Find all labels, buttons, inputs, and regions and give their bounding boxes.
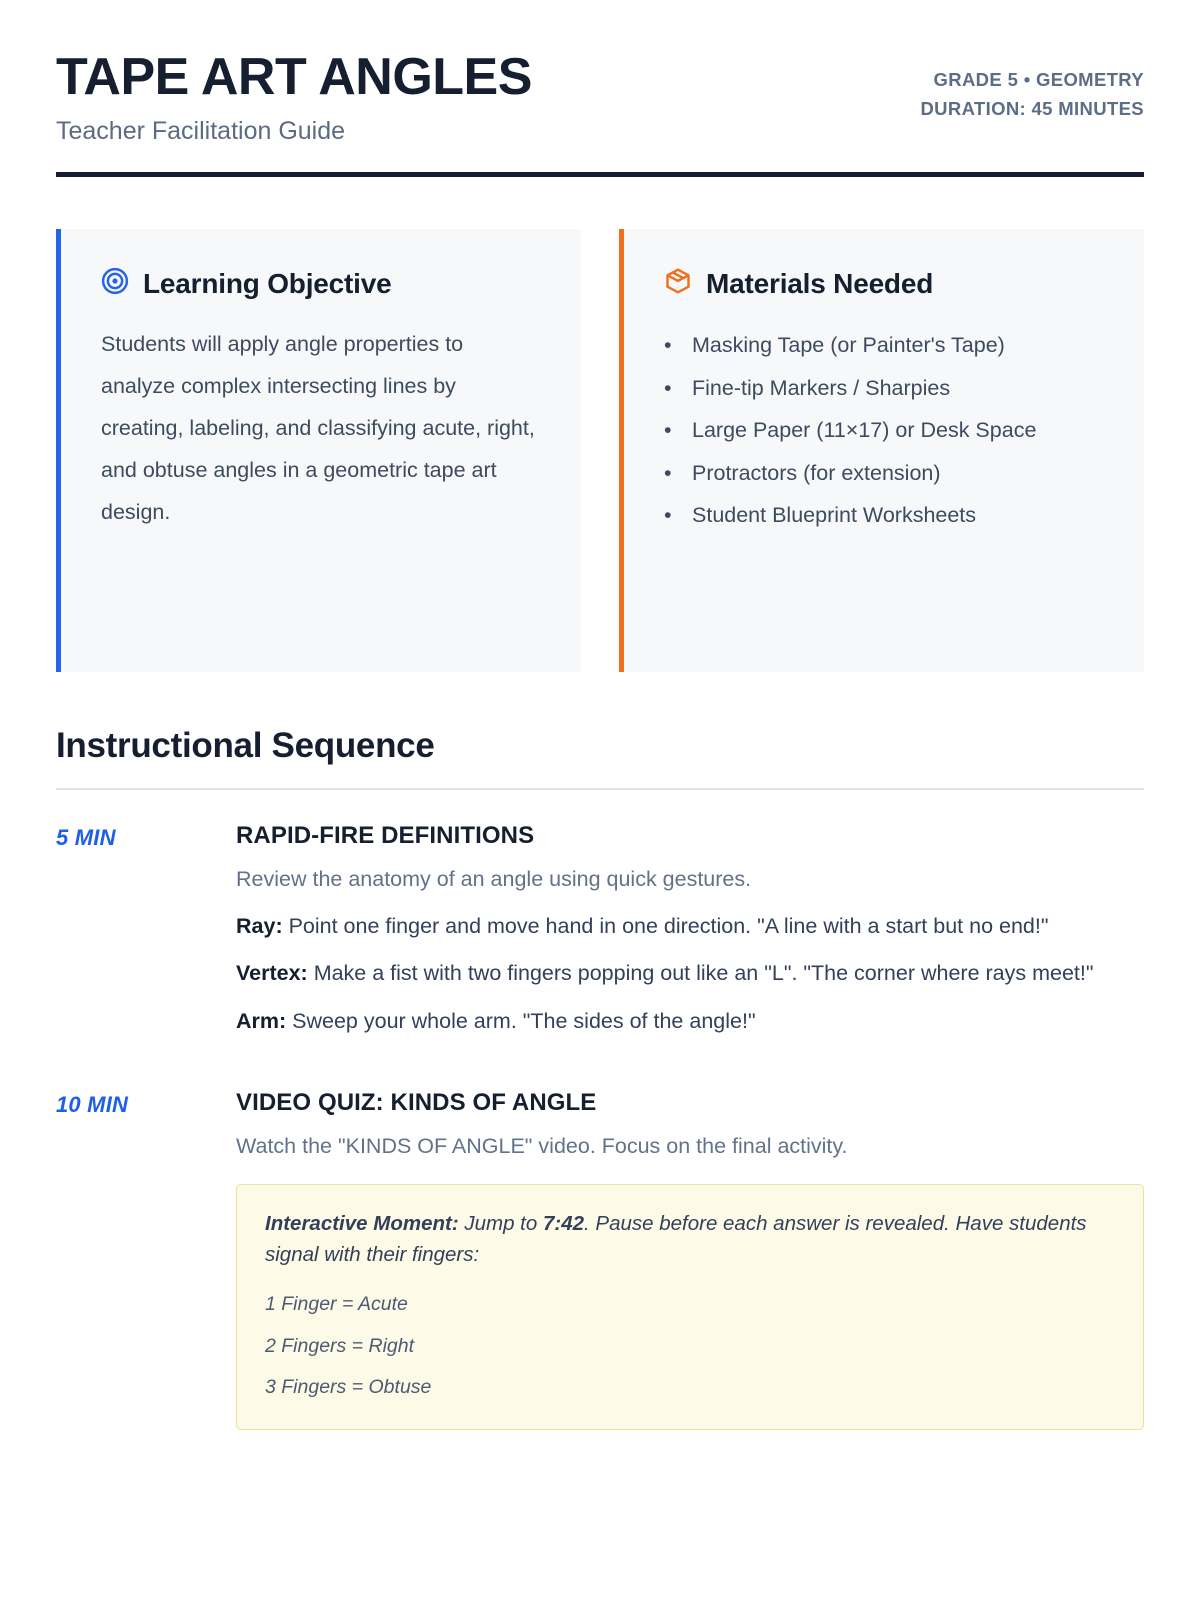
step-description: Watch the "KINDS OF ANGLE" video. Focus … bbox=[236, 1131, 1144, 1162]
section-divider bbox=[56, 788, 1144, 790]
learning-objective-text: Students will apply angle properties to … bbox=[101, 324, 541, 534]
lesson-guide-page: TAPE ART ANGLES Teacher Facilitation Gui… bbox=[0, 0, 1200, 1600]
material-item: •Masking Tape (or Painter's Tape) bbox=[664, 324, 1104, 367]
material-item: •Large Paper (11×17) or Desk Space bbox=[664, 409, 1104, 452]
materials-list: •Masking Tape (or Painter's Tape)•Fine-t… bbox=[664, 324, 1104, 537]
page-title: TAPE ART ANGLES bbox=[56, 50, 532, 104]
step-detail-label: Arm: bbox=[236, 1009, 286, 1033]
callout-signal-item: 2 Fingers = Right bbox=[265, 1332, 1115, 1360]
material-item: •Fine-tip Markers / Sharpies bbox=[664, 367, 1104, 410]
material-item-label: Protractors (for extension) bbox=[692, 461, 941, 485]
step-detail-label: Ray: bbox=[236, 914, 283, 938]
meta-duration: DURATION: 45 MINUTES bbox=[920, 95, 1144, 124]
timeline-step: 5 MINRAPID-FIRE DEFINITIONSReview the an… bbox=[56, 822, 1144, 1053]
step-detail-label: Vertex: bbox=[236, 961, 308, 985]
learning-objective-header: Learning Objective bbox=[101, 267, 541, 300]
material-item: •Student Blueprint Worksheets bbox=[664, 494, 1104, 537]
header-divider bbox=[56, 172, 1144, 177]
material-item-label: Large Paper (11×17) or Desk Space bbox=[692, 418, 1036, 442]
material-item-label: Masking Tape (or Painter's Tape) bbox=[692, 333, 1005, 357]
callout-signal-item: 3 Fingers = Obtuse bbox=[265, 1373, 1115, 1401]
callout-signal-item: 1 Finger = Acute bbox=[265, 1290, 1115, 1318]
step-detail: Arm: Sweep your whole arm. "The sides of… bbox=[236, 1006, 1144, 1037]
list-bullet: • bbox=[664, 324, 692, 367]
materials-card: Materials Needed •Masking Tape (or Paint… bbox=[619, 229, 1144, 672]
material-item-label: Student Blueprint Worksheets bbox=[692, 503, 976, 527]
header-title-block: TAPE ART ANGLES Teacher Facilitation Gui… bbox=[56, 46, 532, 146]
step-detail: Ray: Point one finger and move hand in o… bbox=[236, 911, 1144, 942]
step-duration: 10 MIN bbox=[56, 1089, 236, 1118]
instructional-timeline: 5 MINRAPID-FIRE DEFINITIONSReview the an… bbox=[56, 822, 1144, 1430]
materials-header: Materials Needed bbox=[664, 267, 1104, 300]
materials-title: Materials Needed bbox=[706, 268, 933, 300]
list-bullet: • bbox=[664, 452, 692, 495]
document-header: TAPE ART ANGLES Teacher Facilitation Gui… bbox=[56, 46, 1144, 146]
step-content: VIDEO QUIZ: KINDS OF ANGLEWatch the "KIN… bbox=[236, 1089, 1144, 1430]
header-meta-block: GRADE 5 • GEOMETRY DURATION: 45 MINUTES bbox=[920, 46, 1144, 123]
callout-lead-text: Interactive Moment: Jump to 7:42. Pause … bbox=[265, 1209, 1115, 1271]
callout-lead-label: Interactive Moment: bbox=[265, 1212, 459, 1235]
step-content: RAPID-FIRE DEFINITIONSReview the anatomy… bbox=[236, 822, 1144, 1053]
list-bullet: • bbox=[664, 409, 692, 452]
step-title: VIDEO QUIZ: KINDS OF ANGLE bbox=[236, 1089, 1144, 1117]
interactive-moment-callout: Interactive Moment: Jump to 7:42. Pause … bbox=[236, 1184, 1144, 1430]
step-description: Review the anatomy of an angle using qui… bbox=[236, 864, 1144, 895]
step-title: RAPID-FIRE DEFINITIONS bbox=[236, 822, 1144, 850]
step-detail: Vertex: Make a fist with two fingers pop… bbox=[236, 958, 1144, 989]
learning-objective-card: Learning Objective Students will apply a… bbox=[56, 229, 581, 672]
material-item-label: Fine-tip Markers / Sharpies bbox=[692, 376, 950, 400]
step-duration: 5 MIN bbox=[56, 822, 236, 851]
summary-cards: Learning Objective Students will apply a… bbox=[56, 229, 1144, 672]
timeline-step: 10 MINVIDEO QUIZ: KINDS OF ANGLEWatch th… bbox=[56, 1089, 1144, 1430]
meta-grade-subject: GRADE 5 • GEOMETRY bbox=[920, 66, 1144, 95]
learning-objective-title: Learning Objective bbox=[143, 268, 391, 300]
page-subtitle: Teacher Facilitation Guide bbox=[56, 116, 532, 146]
list-bullet: • bbox=[664, 494, 692, 537]
package-icon bbox=[664, 267, 692, 300]
section-heading: Instructional Sequence bbox=[56, 726, 1144, 766]
callout-timestamp: 7:42 bbox=[543, 1212, 584, 1235]
material-item: •Protractors (for extension) bbox=[664, 452, 1104, 495]
target-icon bbox=[101, 267, 129, 300]
list-bullet: • bbox=[664, 367, 692, 410]
